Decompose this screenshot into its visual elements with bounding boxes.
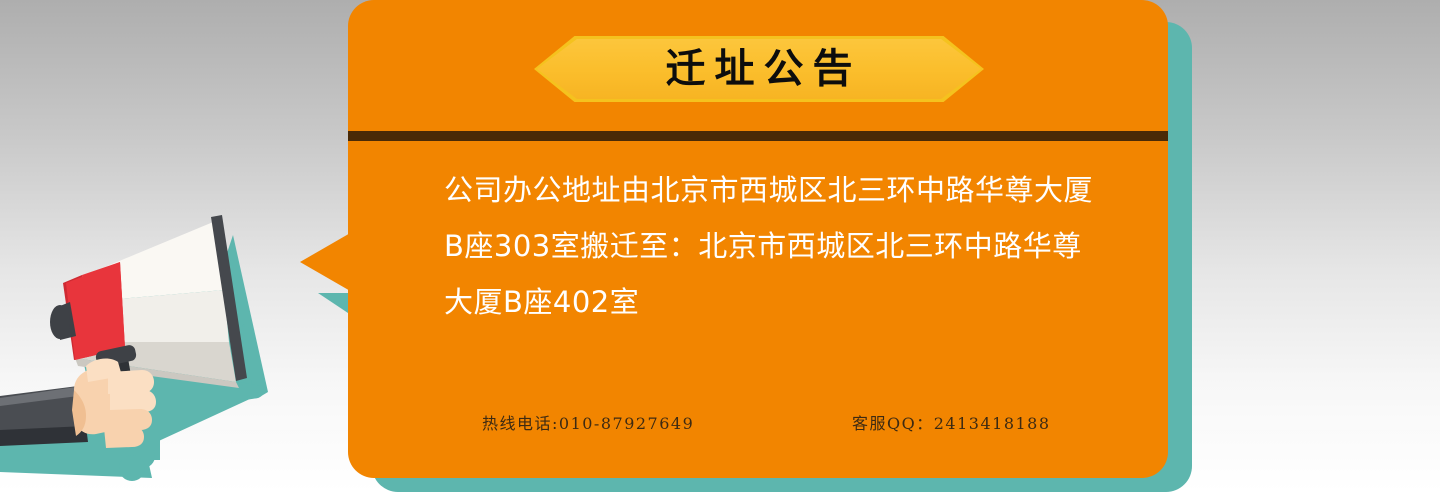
contact-footer: 热线电话:010-87927649 客服QQ：2413418188 [348, 405, 1168, 435]
megaphone-body [50, 262, 125, 360]
qq-text: 客服QQ：2413418188 [852, 410, 1051, 434]
header-divider [348, 131, 1168, 141]
relocation-announcement-banner: 迁址公告 公司办公地址由北京市西城区北三环中路华尊大厦B座303室搬迁至：北京市… [0, 0, 1440, 492]
page-title: 迁址公告 [534, 36, 984, 102]
announcement-body: 公司办公地址由北京市西城区北三环中路华尊大厦B座303室搬迁至：北京市西城区北三… [444, 162, 1094, 330]
bubble-tail [300, 232, 352, 292]
megaphone-illustration [0, 190, 300, 492]
announcement-card: 迁址公告 公司办公地址由北京市西城区北三环中路华尊大厦B座303室搬迁至：北京市… [348, 0, 1168, 478]
title-ribbon: 迁址公告 [534, 36, 984, 102]
hotline-text: 热线电话:010-87927649 [482, 410, 694, 434]
